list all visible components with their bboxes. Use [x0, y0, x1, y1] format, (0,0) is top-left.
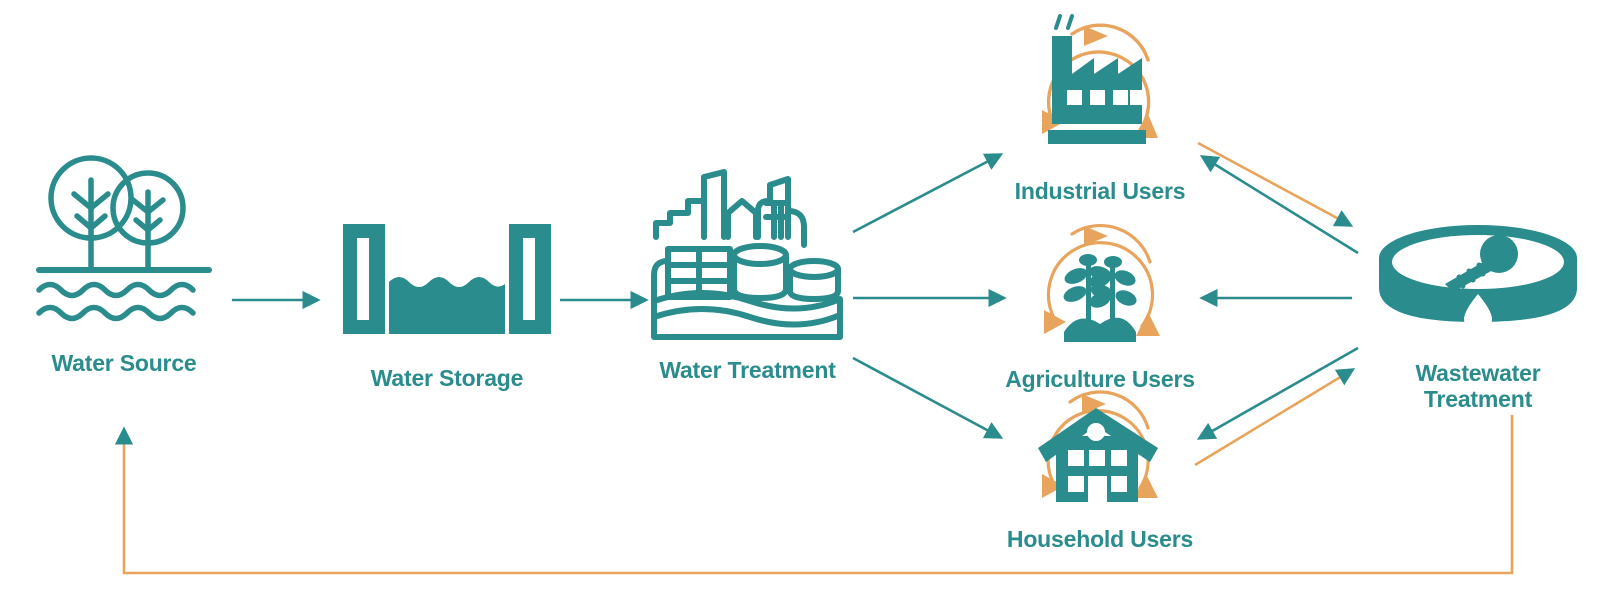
treatment-plant-icon — [648, 165, 848, 345]
wastewater-tank-icon — [1373, 222, 1583, 352]
node-water-treatment[interactable]: Water Treatment — [630, 165, 865, 383]
node-water-source[interactable]: Water Source — [0, 150, 248, 376]
factory-recycle-icon — [1022, 12, 1178, 172]
node-label-wastewater-treatment: Wastewater Treatment — [1416, 360, 1541, 413]
node-label-water-treatment: Water Treatment — [659, 357, 835, 383]
node-label-household-users: Household Users — [1007, 526, 1193, 552]
node-label-industrial-users: Industrial Users — [1015, 178, 1186, 204]
node-label-water-source: Water Source — [51, 350, 196, 376]
house-recycle-icon — [1030, 392, 1170, 520]
edge-wastewater-to-source-loop — [124, 415, 1512, 573]
edge-wastewater-to-industrial — [1203, 157, 1358, 253]
node-water-storage[interactable]: Water Storage — [322, 220, 572, 391]
dam-reservoir-icon — [337, 220, 557, 335]
node-industrial-users[interactable]: Industrial Users — [975, 12, 1225, 204]
node-agriculture-users[interactable]: Agriculture Users — [975, 222, 1225, 392]
node-household-users[interactable]: Household Users — [975, 392, 1225, 552]
water-cycle-diagram: Water Source Water Storage — [0, 0, 1600, 601]
node-wastewater-treatment[interactable]: Wastewater Treatment — [1360, 222, 1596, 413]
node-label-agriculture-users: Agriculture Users — [1005, 366, 1195, 392]
trees-over-water-icon — [29, 150, 219, 340]
node-label-water-storage: Water Storage — [371, 365, 523, 391]
smoke-mark-2 — [1068, 16, 1072, 28]
recycle-arrow-top — [1084, 26, 1108, 46]
crops-recycle-icon — [1030, 222, 1170, 362]
smoke-mark-1 — [1056, 16, 1060, 28]
